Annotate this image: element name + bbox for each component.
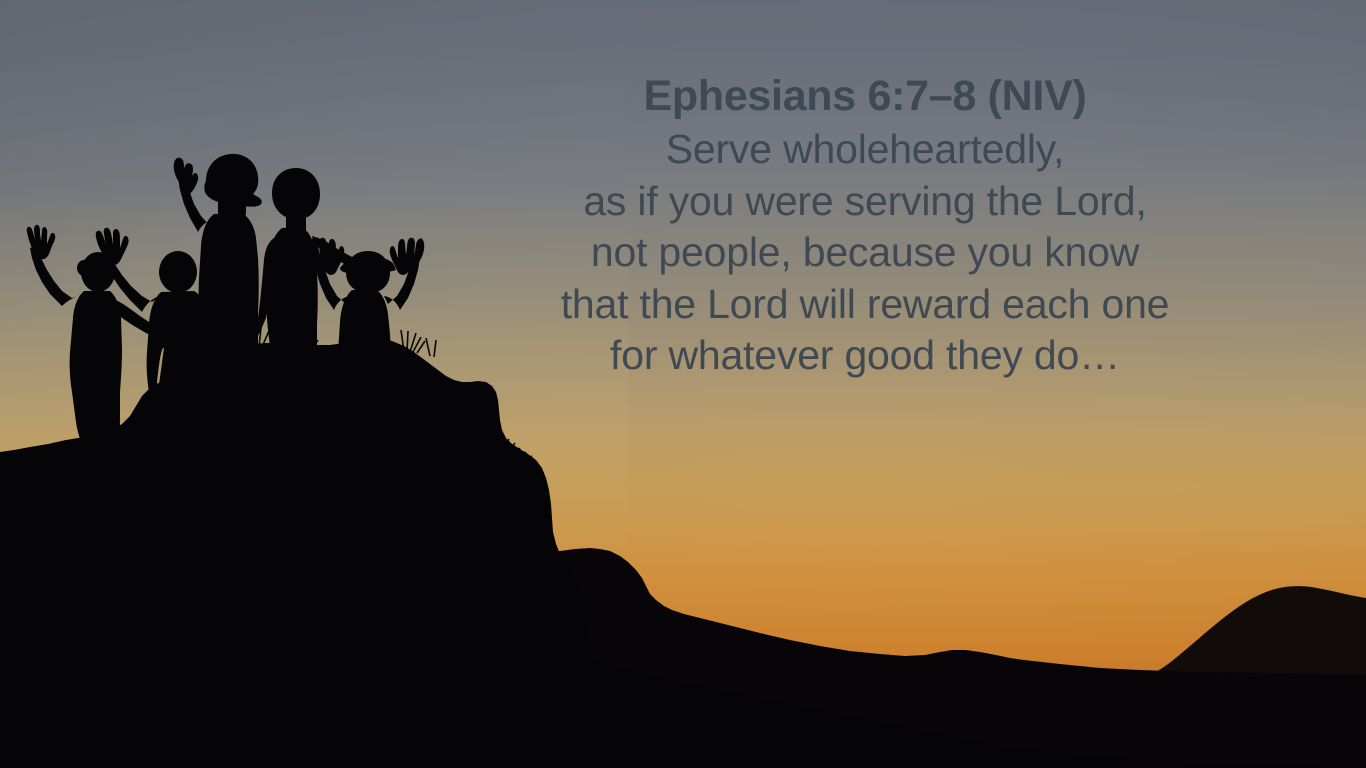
slide-canvas: Ephesians 6:7–8 (NIV) Serve wholehearted…	[0, 0, 1366, 768]
verse-body: Serve wholeheartedly, as if you were ser…	[430, 124, 1366, 381]
verse-line: that the Lord will reward each one	[430, 279, 1300, 330]
verse-line: Serve wholeheartedly,	[430, 124, 1300, 175]
verse-text-block: Ephesians 6:7–8 (NIV) Serve wholehearted…	[430, 72, 1366, 381]
verse-line: for whatever good they do…	[430, 330, 1300, 381]
verse-line: as if you were serving the Lord,	[430, 176, 1300, 227]
verse-line: not people, because you know	[430, 227, 1300, 278]
verse-reference-title: Ephesians 6:7–8 (NIV)	[430, 72, 1366, 120]
